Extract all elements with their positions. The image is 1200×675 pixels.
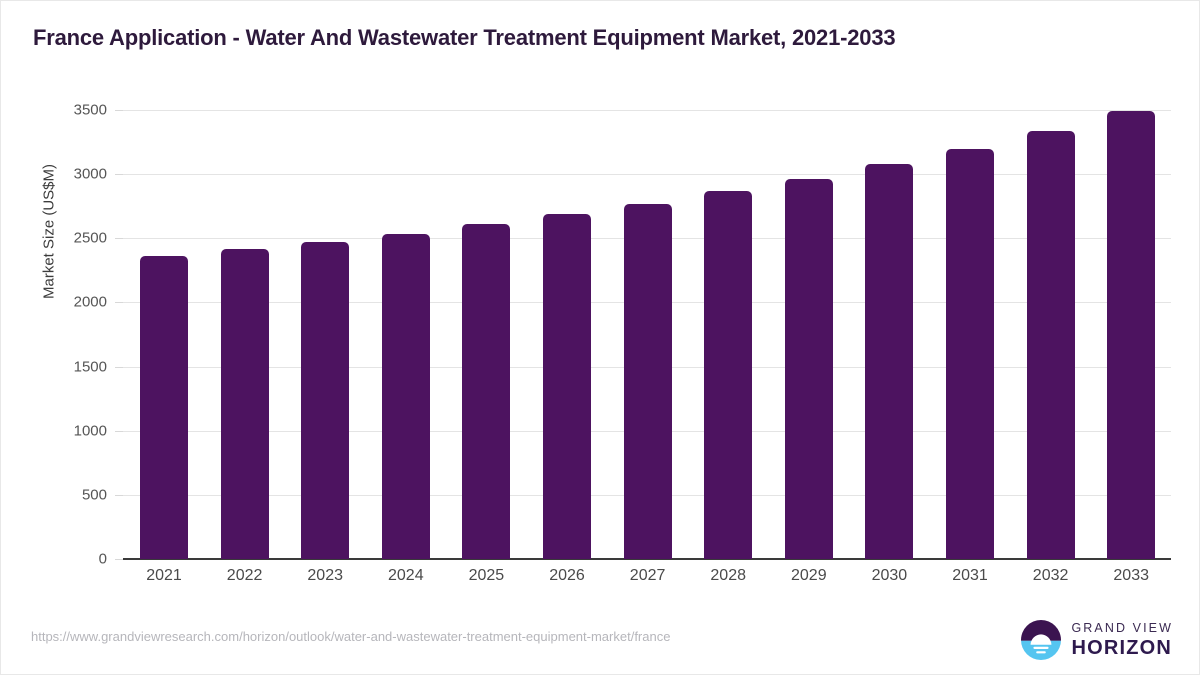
y-tick-mark	[115, 174, 123, 175]
bar-2022[interactable]	[221, 249, 269, 559]
y-tick-mark	[115, 367, 123, 368]
bar-series	[123, 110, 1171, 559]
bar-2023[interactable]	[301, 242, 349, 559]
source-url[interactable]: https://www.grandviewresearch.com/horizo…	[31, 629, 670, 644]
x-axis-labels: 2021202220232024202520262027202820292030…	[123, 567, 1171, 593]
y-tick-mark	[115, 495, 123, 496]
y-tick-mark	[115, 238, 123, 239]
x-tick-label-2028: 2028	[688, 567, 768, 585]
y-tick-label: 2000	[74, 294, 107, 311]
x-tick-label-2029: 2029	[769, 567, 849, 585]
x-tick-label-2025: 2025	[446, 567, 526, 585]
x-tick-label-2030: 2030	[849, 567, 929, 585]
y-tick-label: 3500	[74, 102, 107, 119]
bar-2033[interactable]	[1107, 111, 1155, 559]
y-tick-label: 1500	[74, 358, 107, 375]
brand-name-bottom: HORIZON	[1071, 638, 1173, 658]
bar-2032[interactable]	[1027, 131, 1075, 559]
brand-wordmark: GRAND VIEW HORIZON	[1071, 622, 1173, 658]
y-tick-mark	[115, 110, 123, 111]
x-tick-label-2032: 2032	[1011, 567, 1091, 585]
x-tick-label-2021: 2021	[124, 567, 204, 585]
x-tick-label-2031: 2031	[930, 567, 1010, 585]
bar-2029[interactable]	[785, 179, 833, 559]
x-tick-label-2027: 2027	[608, 567, 688, 585]
y-tick-mark	[115, 559, 123, 560]
x-tick-label-2022: 2022	[205, 567, 285, 585]
y-tick-mark	[115, 302, 123, 303]
y-tick-label: 1000	[74, 422, 107, 439]
x-tick-label-2026: 2026	[527, 567, 607, 585]
bar-2021[interactable]	[140, 256, 188, 559]
x-tick-label-2024: 2024	[366, 567, 446, 585]
x-tick-label-2033: 2033	[1091, 567, 1171, 585]
bar-2030[interactable]	[865, 164, 913, 559]
y-tick-label: 0	[99, 551, 107, 568]
y-axis-title: Market Size (US$M)	[41, 32, 58, 432]
plot-area: 0500100015002000250030003500	[123, 110, 1171, 559]
bar-2025[interactable]	[462, 224, 510, 559]
bar-2024[interactable]	[382, 234, 430, 559]
bar-2031[interactable]	[946, 149, 994, 560]
chart-page: France Application - Water And Wastewate…	[0, 0, 1200, 675]
y-tick-label: 2500	[74, 230, 107, 247]
y-tick-label: 500	[82, 486, 107, 503]
x-tick-label-2023: 2023	[285, 567, 365, 585]
brand-name-top: GRAND VIEW	[1071, 622, 1173, 635]
y-tick-mark	[115, 431, 123, 432]
brand-logo: GRAND VIEW HORIZON	[1021, 615, 1173, 665]
horizon-sun-circle-icon	[1021, 620, 1061, 660]
bar-2027[interactable]	[624, 204, 672, 559]
bar-2026[interactable]	[543, 214, 591, 559]
bar-2028[interactable]	[704, 191, 752, 559]
y-tick-label: 3000	[74, 166, 107, 183]
page-title: France Application - Water And Wastewate…	[33, 25, 895, 51]
